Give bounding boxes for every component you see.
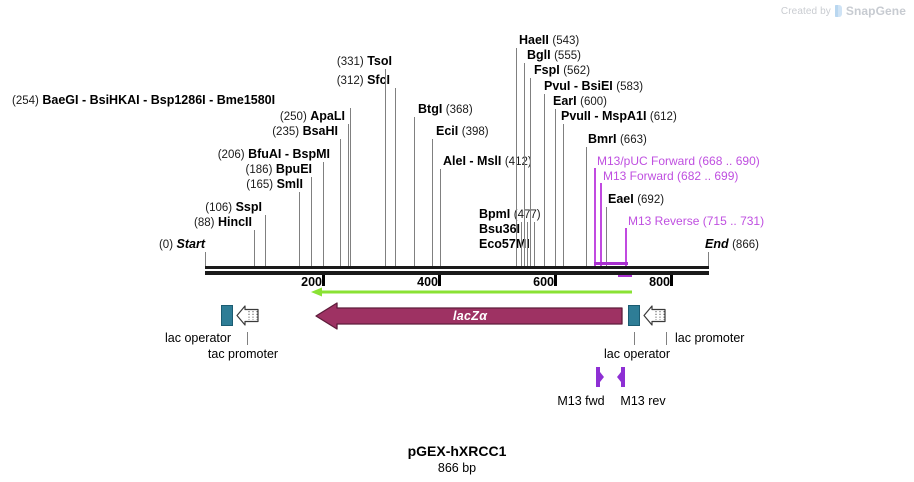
leader-eco57mi: [534, 222, 535, 267]
lac-operator-label-right: lac operator: [604, 347, 670, 361]
enzyme-label-hincii[interactable]: (88) HincII: [194, 216, 252, 230]
leader-ecii: [432, 139, 433, 267]
m13-fwd-arrow[interactable]: [594, 366, 606, 388]
enzyme-label-btgi[interactable]: BtgI (368): [418, 103, 473, 117]
leader-apali: [348, 124, 349, 267]
leader-bsahi: [340, 139, 341, 267]
ruler-tick-mark-600: [554, 275, 557, 286]
ruler-line-top: [205, 266, 709, 269]
m13-rev-label: M13 rev: [620, 394, 665, 408]
leader-m13-puc-forward: [594, 168, 596, 267]
connector-lac-operator-right: [634, 332, 635, 345]
lac-promoter-label: lac promoter: [675, 331, 744, 345]
enzyme-label-alei-group[interactable]: AleI - MslI (412): [443, 155, 532, 169]
leader-fspi: [530, 78, 531, 267]
enzyme-label-pvuii-group[interactable]: PvuII - MspA1I (612): [561, 110, 677, 124]
tac-promoter-label: tac promoter: [208, 347, 278, 361]
leader-btgi: [414, 117, 415, 267]
leader-m13-forward: [600, 183, 602, 267]
enzyme-label-bsahi[interactable]: (235) BsaHI: [272, 125, 338, 139]
enzyme-label-bmri[interactable]: BmrI (663): [588, 133, 647, 147]
enzyme-label-bgli[interactable]: BglI (555): [527, 49, 581, 63]
ruler-tick-mark-800: [670, 275, 673, 286]
primer-label-m13-puc-forward[interactable]: M13/pUC Forward (668 .. 690): [597, 155, 760, 168]
page-title: pGEX-hXRCC1: [0, 443, 914, 459]
watermark-brand: SnapGene: [846, 4, 906, 18]
ruler-tick-800: 800: [649, 275, 670, 289]
ruler-end-label: End (866): [705, 238, 759, 252]
leader-end: [708, 252, 709, 267]
snapgene-watermark: Created by SnapGene: [781, 4, 906, 18]
connector-lac-promoter: [666, 332, 667, 345]
primer-label-m13-forward[interactable]: M13 Forward (682 .. 699): [603, 170, 738, 183]
m13-rev-arrow[interactable]: [615, 366, 627, 388]
leader-start: [205, 252, 206, 267]
lac-operator-box-left[interactable]: [221, 305, 233, 326]
enzyme-label-bpuei[interactable]: (186) BpuEI: [246, 163, 312, 177]
primer-bar-m13-forward[interactable]: [594, 262, 628, 265]
tac-promoter-arrow[interactable]: [236, 303, 260, 328]
page-subtitle: 866 bp: [0, 461, 914, 475]
watermark-created-by: Created by: [781, 6, 831, 17]
enzyme-label-sspi[interactable]: (106) SspI: [205, 201, 262, 215]
leader-smli: [299, 192, 300, 267]
connector-tac-promoter: [247, 332, 248, 345]
leader-tsoi: [385, 69, 386, 267]
leader-pvui: [544, 94, 545, 267]
enzyme-label-eaei[interactable]: EaeI (692): [608, 193, 664, 207]
enzyme-label-bfuai-group[interactable]: (206) BfuAI - BspMI: [218, 148, 330, 162]
enzyme-label-fspi[interactable]: FspI (562): [534, 64, 590, 78]
lac-operator-box-right[interactable]: [628, 305, 640, 326]
leader-bmri: [586, 147, 587, 267]
leader-sspi: [265, 215, 266, 267]
primer-label-m13-reverse[interactable]: M13 Reverse (715 .. 731): [628, 215, 764, 228]
ruler-line-bottom: [205, 271, 709, 275]
enzyme-label-ecii[interactable]: EciI (398): [436, 125, 489, 139]
enzyme-label-eco57mi[interactable]: Eco57MI: [479, 238, 530, 251]
enzyme-label-bsu36i[interactable]: Bsu36I: [479, 223, 520, 236]
leader-sfci: [395, 88, 396, 267]
enzyme-label-pvui-group[interactable]: PvuI - BsiEI (583): [544, 80, 643, 94]
enzyme-label-apali[interactable]: (250) ApaLI: [280, 110, 345, 124]
lacz-alpha-label: lacZα: [453, 309, 487, 323]
leader-eaei: [606, 207, 607, 267]
ruler-tick-mark-400: [438, 275, 441, 286]
enzyme-label-sfci[interactable]: (312) SfcI: [337, 74, 390, 88]
leader-bsu36i: [527, 222, 528, 267]
leader-alei: [440, 169, 441, 267]
lac-promoter-arrow[interactable]: [643, 303, 667, 328]
leader-bfuai: [323, 162, 324, 267]
plasmid-map-canvas: Created by SnapGene (254) BaeGI - BsiHKA…: [0, 0, 914, 482]
snapgene-logo-icon: [835, 5, 842, 17]
enzyme-label-haeii[interactable]: HaeII (543): [519, 34, 579, 48]
leader-bpmi: [521, 222, 522, 267]
enzyme-label-baegi-group[interactable]: (254) BaeGI - BsiHKAI - Bsp1286I - Bme15…: [12, 94, 275, 108]
ruler-start-label: (0) Start: [159, 238, 205, 252]
lacz-transcript-arrow[interactable]: [310, 286, 634, 298]
lac-operator-label-left: lac operator: [165, 331, 231, 345]
m13-fwd-label: M13 fwd: [557, 394, 604, 408]
enzyme-label-eari[interactable]: EarI (600): [553, 95, 607, 109]
leader-bpuei: [311, 177, 312, 267]
ruler-tick-mark-200: [322, 275, 325, 286]
enzyme-label-bpmi[interactable]: BpmI (477): [479, 208, 541, 222]
leader-hincii: [254, 230, 255, 267]
leader-bgli: [524, 63, 525, 267]
enzyme-label-tsoi[interactable]: (331) TsoI: [337, 55, 392, 69]
leader-baegi: [350, 108, 351, 267]
enzyme-label-smli[interactable]: (165) SmlI: [246, 178, 303, 192]
leader-pvuii: [563, 124, 564, 267]
leader-eari: [555, 109, 556, 267]
leader-haeii: [516, 48, 517, 267]
